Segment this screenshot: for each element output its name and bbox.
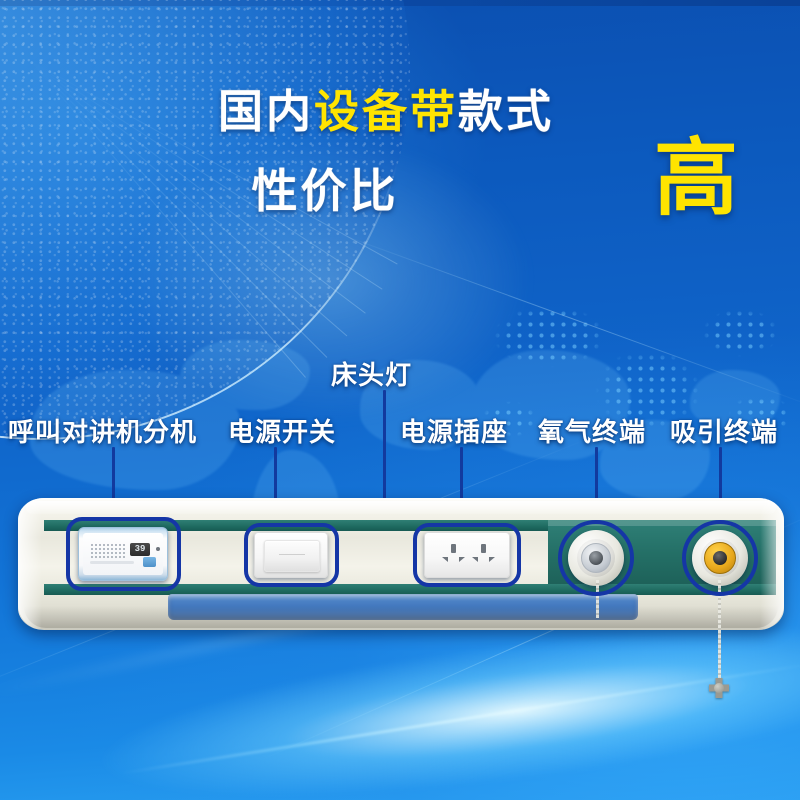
highlight-circle-suction — [682, 520, 758, 596]
highlight-box-intercom — [66, 517, 181, 591]
highlight-circle-oxygen — [558, 520, 634, 596]
headline-part-2: 设备带 — [314, 86, 458, 137]
callout-label-oxygen: 氧气终端 — [538, 412, 646, 449]
headline-part-3: 款式 — [458, 86, 554, 137]
callout-label-power-socket: 电源插座 — [400, 412, 508, 449]
pull-cord-pendant[interactable] — [709, 678, 729, 698]
panel-bottom-shadow — [24, 606, 778, 628]
panel-top-highlight — [26, 501, 776, 514]
highlight-box-socket — [413, 523, 521, 587]
callout-label-suction: 吸引终端 — [670, 412, 778, 449]
panel-end-cap-left — [18, 498, 52, 630]
callout-label-bed-lamp: 床头灯 — [331, 355, 412, 392]
callout-label-intercom: 呼叫对讲机分机 — [8, 412, 197, 449]
banner-stage: 国内设备带款式 性价比 高 呼叫对讲机分机 电源开关 床头灯 电源插座 氧气终端… — [0, 0, 800, 800]
highlight-box-switch — [244, 523, 339, 587]
headline-part-1: 国内 — [218, 86, 314, 137]
headline-emphasis: 高 — [654, 136, 738, 220]
callout-label-power-switch: 电源开关 — [228, 412, 336, 449]
headline-subline: 性价比 — [252, 165, 399, 217]
